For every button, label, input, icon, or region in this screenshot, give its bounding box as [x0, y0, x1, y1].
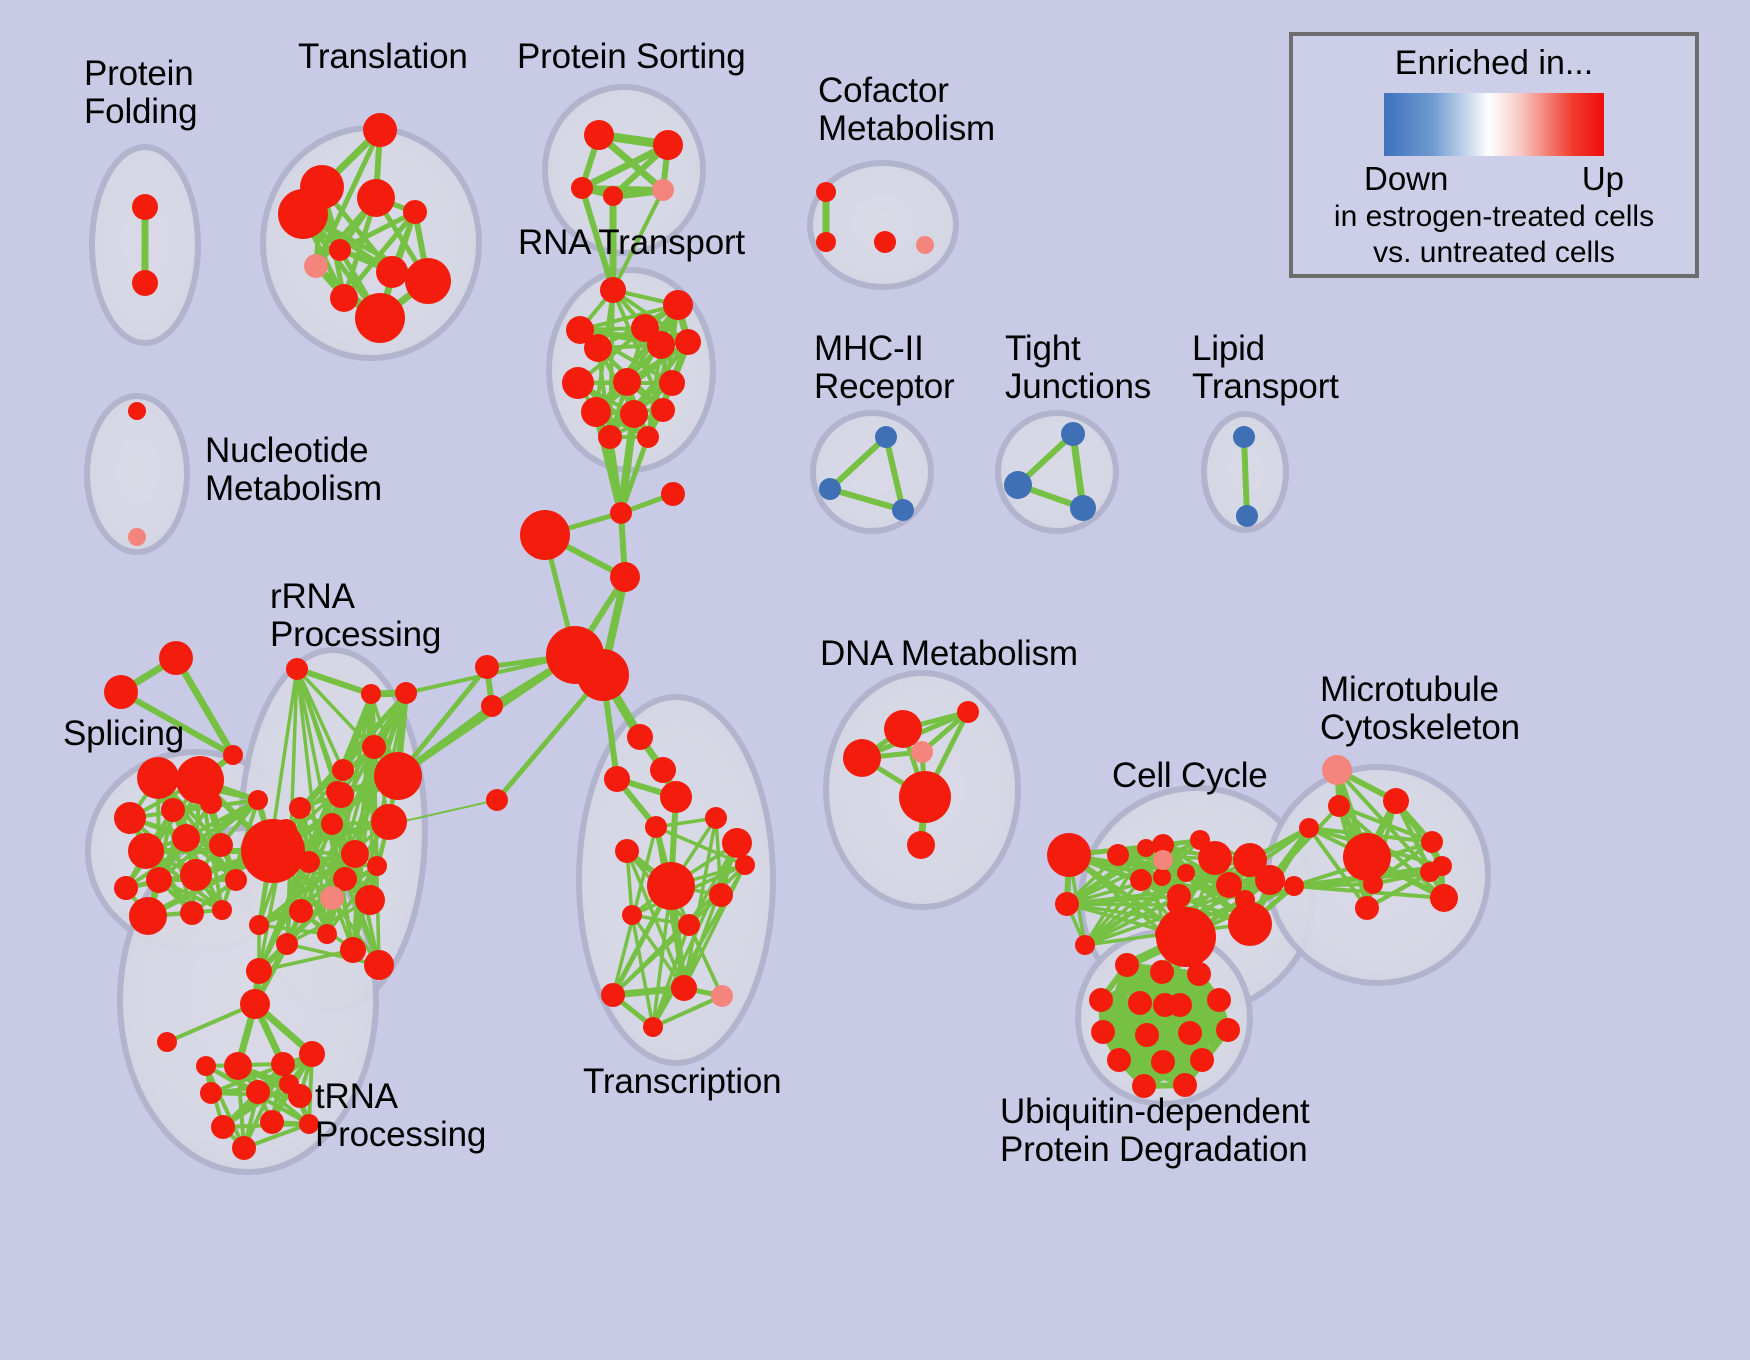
network-node-up	[481, 695, 503, 717]
network-node-up	[298, 851, 320, 873]
network-node-up-weak	[320, 886, 344, 910]
legend-color-gradient	[1384, 93, 1604, 156]
network-node-down	[1070, 495, 1096, 521]
network-node-up	[232, 1136, 256, 1160]
network-node-up	[161, 798, 185, 822]
network-node-up	[1130, 869, 1152, 891]
network-node-up	[571, 177, 593, 199]
network-node-up	[246, 1080, 270, 1104]
network-node-up	[874, 231, 896, 253]
network-node-up	[371, 804, 407, 840]
network-node-up	[1432, 856, 1452, 876]
network-node-up	[405, 258, 451, 304]
network-node-up	[1153, 993, 1177, 1017]
network-node-up-weak	[711, 985, 733, 1007]
network-node-up-weak	[304, 254, 328, 278]
cluster-ellipse-cofactor-metabolism	[810, 163, 956, 287]
network-node-up	[562, 367, 594, 399]
network-node-up	[1107, 1048, 1131, 1072]
network-node-up	[209, 833, 233, 857]
network-node-up	[1055, 892, 1079, 916]
network-node-up	[128, 402, 146, 420]
network-node-up	[613, 368, 641, 396]
network-node-up	[1363, 874, 1383, 894]
legend-endpoint-labels: Down Up	[1364, 160, 1624, 198]
network-node-up	[622, 905, 642, 925]
network-node-up	[816, 232, 836, 252]
network-node-up	[249, 915, 269, 935]
cluster-label-translation: Translation	[298, 38, 468, 76]
network-node-up	[246, 958, 272, 984]
network-node-up	[223, 745, 243, 765]
network-node-up-weak	[652, 179, 674, 201]
network-node-up	[374, 752, 422, 800]
network-node-up	[581, 397, 611, 427]
network-node-up	[299, 1041, 325, 1067]
network-node-up	[132, 194, 158, 220]
legend-title: Enriched in...	[1293, 44, 1695, 83]
network-node-up	[1299, 818, 1319, 838]
network-node-up	[1343, 833, 1391, 881]
network-node-up	[1228, 902, 1272, 946]
cluster-label-mhc-ii-receptor: MHC-II Receptor	[814, 330, 954, 406]
network-node-up	[816, 182, 836, 202]
cluster-label-tight-junctions: Tight Junctions	[1005, 330, 1151, 406]
network-node-up	[603, 186, 623, 206]
network-node-up	[361, 684, 381, 704]
network-node-up	[241, 819, 305, 883]
cluster-label-protein-sorting: Protein Sorting	[517, 38, 746, 76]
network-node-up-weak	[1153, 850, 1173, 870]
network-node-up	[240, 989, 270, 1019]
network-node-up	[659, 370, 685, 396]
network-node-up	[317, 924, 337, 944]
network-node-up	[1075, 935, 1095, 955]
network-node-up	[643, 1017, 663, 1037]
network-node-up	[661, 482, 685, 506]
network-node-up	[395, 682, 417, 704]
network-node-up	[647, 862, 695, 910]
network-node-up	[341, 840, 369, 868]
network-node-up	[615, 839, 639, 863]
network-node-up	[1137, 839, 1155, 857]
network-node-up	[709, 883, 733, 907]
network-node-down	[1236, 505, 1258, 527]
network-node-up	[355, 293, 405, 343]
network-node-up-weak	[1322, 755, 1352, 785]
network-node-up	[326, 781, 348, 803]
network-node-up	[172, 824, 200, 852]
network-node-up	[1198, 841, 1232, 875]
network-node-up	[1167, 884, 1191, 908]
network-node-down	[1004, 471, 1032, 499]
network-node-up	[1089, 988, 1113, 1012]
network-node-up	[1190, 1048, 1214, 1072]
network-node-up	[637, 426, 659, 448]
legend-high-label: Up	[1582, 160, 1624, 198]
network-node-up	[1177, 864, 1195, 882]
network-node-up	[364, 950, 394, 980]
network-node-up	[957, 701, 979, 723]
network-node-up-weak	[916, 236, 934, 254]
network-node-up	[1151, 1050, 1175, 1074]
network-node-up	[705, 807, 727, 829]
network-node-down	[875, 426, 897, 448]
network-node-up	[248, 790, 268, 810]
network-node-up	[330, 284, 358, 312]
cluster-label-splicing: Splicing	[63, 715, 184, 753]
network-node-up	[610, 502, 632, 524]
cluster-label-protein-folding: Protein Folding	[84, 55, 197, 131]
network-node-up	[1421, 831, 1443, 853]
network-node-up	[653, 130, 683, 160]
network-node-up	[200, 792, 222, 814]
network-node-up	[278, 189, 328, 239]
cluster-label-nucleotide-metabolism: Nucleotide Metabolism	[205, 432, 382, 508]
network-node-up	[601, 983, 625, 1007]
network-node-up	[159, 641, 193, 675]
cluster-label-cell-cycle: Cell Cycle	[1112, 757, 1268, 795]
network-node-down	[1233, 426, 1255, 448]
network-node-up	[1207, 988, 1231, 1012]
network-node-up	[1135, 1023, 1159, 1047]
network-node-up	[1156, 907, 1216, 967]
network-node-up	[520, 510, 570, 560]
network-node-up	[132, 270, 158, 296]
network-node-up	[475, 655, 499, 679]
network-node-up	[671, 975, 697, 1001]
network-node-up	[180, 901, 204, 925]
network-node-up	[279, 1074, 299, 1094]
network-node-up	[899, 771, 951, 823]
cluster-label-cofactor-metabolism: Cofactor Metabolism	[818, 72, 995, 148]
network-node-up	[660, 781, 692, 813]
network-node-up	[1153, 868, 1171, 886]
network-node-up	[1328, 795, 1350, 817]
network-node-up	[620, 400, 648, 428]
network-node-up	[598, 425, 622, 449]
network-node-up	[286, 658, 308, 680]
network-node-up	[332, 759, 354, 781]
network-node-up	[663, 290, 693, 320]
network-node-up	[363, 113, 397, 147]
network-node-up	[211, 1115, 235, 1139]
network-node-up	[276, 933, 298, 955]
network-node-up	[180, 859, 212, 891]
legend-low-label: Down	[1364, 160, 1448, 198]
network-node-up	[645, 816, 667, 838]
network-node-up	[1150, 960, 1174, 984]
network-node-up	[1216, 1018, 1240, 1042]
network-node-up	[1107, 844, 1129, 866]
network-node-up	[329, 239, 351, 261]
network-node-up	[627, 724, 653, 750]
cluster-label-rrna-processing: rRNA Processing	[270, 578, 441, 654]
network-node-up	[129, 897, 167, 935]
network-node-up	[584, 334, 612, 362]
network-node-up-weak	[128, 528, 146, 546]
cluster-label-dna-metabolism: DNA Metabolism	[820, 635, 1078, 673]
network-node-down	[892, 499, 914, 521]
network-node-up	[1115, 953, 1139, 977]
legend-subtitle-line-1: in estrogen-treated cells	[1293, 200, 1695, 234]
cluster-label-lipid-transport: Lipid Transport	[1192, 330, 1339, 406]
network-node-up	[355, 885, 385, 915]
network-node-up	[675, 329, 701, 355]
network-node-up	[271, 1052, 295, 1076]
cluster-label-rna-transport: RNA Transport	[518, 224, 745, 262]
network-node-up-weak	[911, 741, 933, 763]
network-node-up	[1355, 896, 1379, 920]
network-node-up	[104, 675, 138, 709]
legend-subtitle-line-2: vs. untreated cells	[1293, 236, 1695, 270]
cluster-label-transcription: Transcription	[583, 1063, 781, 1101]
network-node-up	[367, 856, 387, 876]
network-node-up	[843, 739, 881, 777]
cluster-label-trna-processing: tRNA Processing	[315, 1078, 486, 1154]
network-edge	[1244, 437, 1247, 516]
network-node-up	[884, 710, 922, 748]
network-node-up	[114, 876, 138, 900]
network-node-up	[357, 179, 395, 217]
network-node-up	[1091, 1020, 1115, 1044]
network-node-up	[1128, 991, 1152, 1015]
network-node-up	[137, 757, 179, 799]
network-node-up	[1216, 872, 1242, 898]
network-node-up	[650, 757, 676, 783]
network-node-up	[1187, 962, 1211, 986]
network-node-up	[128, 833, 164, 869]
network-node-up	[1430, 884, 1458, 912]
network-node-up	[362, 735, 386, 759]
network-node-up	[584, 120, 614, 150]
network-node-up	[1047, 833, 1091, 877]
network-node-up	[200, 1082, 222, 1104]
cluster-label-microtubule: Microtubule Cytoskeleton	[1320, 671, 1520, 747]
network-node-up	[1284, 876, 1304, 896]
network-node-up	[907, 831, 935, 859]
network-node-down	[819, 478, 841, 500]
network-node-up	[403, 200, 427, 224]
network-node-up	[224, 1052, 252, 1080]
network-node-up	[600, 277, 626, 303]
network-node-up	[610, 562, 640, 592]
network-node-up	[678, 914, 700, 936]
network-node-up	[1178, 1021, 1202, 1045]
network-node-up	[340, 937, 366, 963]
network-node-up	[604, 766, 630, 792]
network-node-up	[289, 797, 311, 819]
network-node-up	[157, 1032, 177, 1052]
network-node-up	[651, 398, 675, 422]
network-node-up	[722, 828, 752, 858]
network-node-up	[321, 813, 343, 835]
network-node-up	[647, 331, 675, 359]
network-node-up	[146, 867, 172, 893]
network-node-up	[735, 855, 755, 875]
network-node-up	[289, 899, 313, 923]
legend: Enriched in... Down Up in estrogen-treat…	[1289, 32, 1699, 278]
network-node-up	[1383, 788, 1409, 814]
cluster-label-ubiquitin: Ubiquitin-dependent Protein Degradation	[1000, 1093, 1310, 1169]
network-node-up	[486, 789, 508, 811]
network-node-up	[212, 900, 232, 920]
network-node-up	[114, 802, 146, 834]
network-node-up	[225, 869, 247, 891]
network-node-up	[196, 1056, 216, 1076]
network-node-up	[1255, 865, 1285, 895]
network-node-up	[260, 1110, 284, 1134]
network-node-up	[577, 649, 629, 701]
network-node-up	[376, 256, 408, 288]
network-node-down	[1061, 422, 1085, 446]
figure-canvas: Protein FoldingTranslationProtein Sortin…	[0, 0, 1750, 1360]
